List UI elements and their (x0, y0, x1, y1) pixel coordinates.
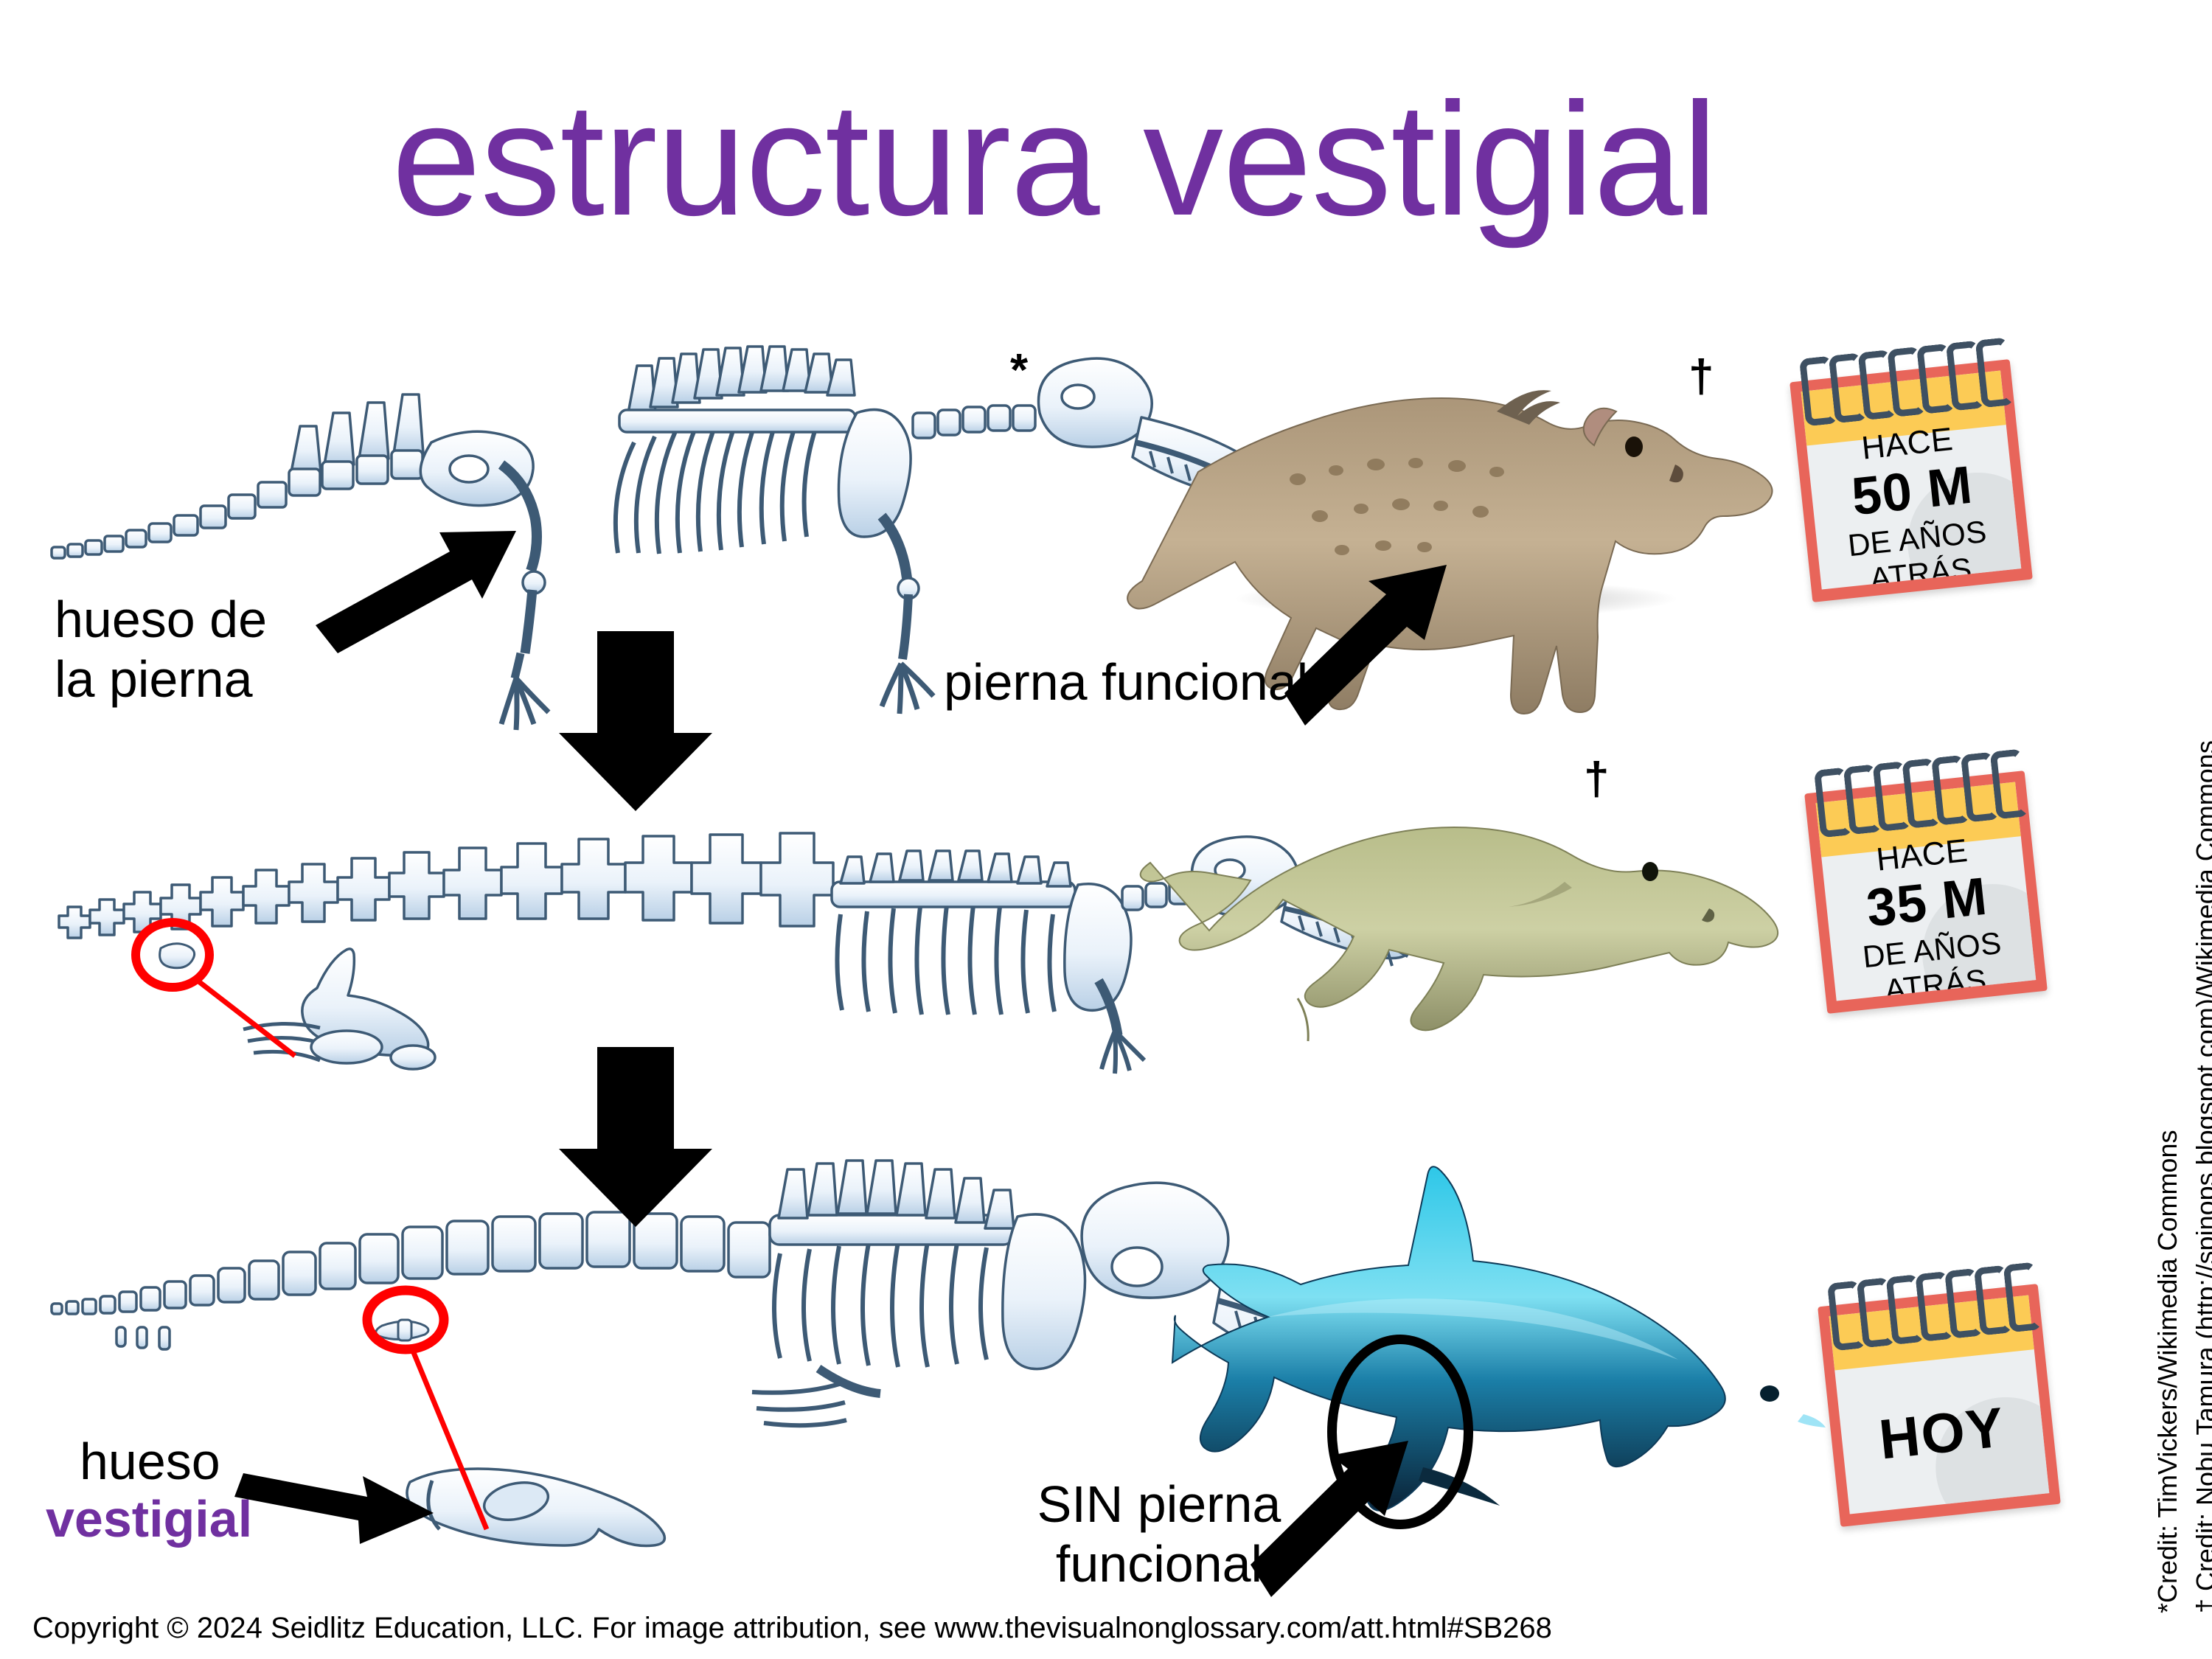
label-vestigial-bone-line2: vestigial (46, 1489, 252, 1549)
marker-dagger-row2: † (1584, 757, 1609, 802)
marker-asterisk-row1: * (1010, 348, 1028, 394)
rodhocetus-vestigial-callout (136, 922, 295, 1056)
label-functional-leg: pierna funcional (944, 653, 1460, 712)
credits-block: *Credit: TimVickers/Wikimedia Commons † … (2121, 0, 2209, 1659)
rodhocetus-bone-inset (243, 949, 435, 1069)
label-vestigial-bone-line1: hueso (80, 1432, 220, 1492)
dolphin-vestigial-callout (367, 1290, 487, 1529)
rodhocetus-skeleton-art (59, 833, 1413, 1074)
dolphin-bone-inset (407, 1469, 664, 1546)
marker-dagger-row1: † (1688, 354, 1714, 400)
dolphin-illustration-art (1172, 1166, 1826, 1511)
calendar-35m: HACE 35 M DE AÑOS ATRÁS (1804, 771, 2048, 1014)
vestigial-bone-arrow (234, 1473, 434, 1544)
poster-canvas: estructura vestigial (0, 0, 2212, 1659)
label-no-functional-leg: SIN pierna funcional (967, 1475, 1351, 1594)
credit-line-1: *Credit: TimVickers/Wikimedia Commons (2154, 1130, 2181, 1613)
calendar-today: HOY (1818, 1284, 2061, 1527)
credit-line-2: † Credit: Nobu Tamura (http://spinops.bl… (2193, 740, 2212, 1613)
label-leg-bone: hueso de la pierna (55, 590, 364, 709)
rodhocetus-illustration-art (1141, 827, 1778, 1041)
calendar-50m: HACE 50 M DE AÑOS ATRÁS (1790, 359, 2033, 602)
page-title: estructura vestigial (0, 80, 2109, 240)
calendar-today-text: HOY (1877, 1395, 2008, 1472)
copyright-notice: Copyright © 2024 Seidlitz Education, LLC… (32, 1613, 1552, 1643)
